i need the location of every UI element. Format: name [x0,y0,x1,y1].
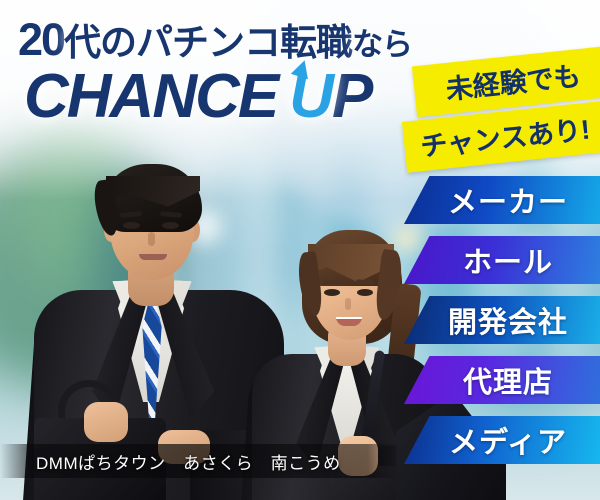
male-eye-right [162,222,179,229]
category-item-agency[interactable]: 代理店 [404,356,600,404]
male-mouth [139,254,167,260]
no-experience-badge: 未経験でも チャンスあり! [414,56,600,162]
category-label-maker: メーカー [436,179,568,221]
category-list: メーカー ホール 開発会社 代理店 メディア [404,176,600,464]
category-item-maker[interactable]: メーカー [404,176,600,224]
headline-up-p-letter: P [332,62,371,131]
headline-line-1-body: 代のパチンコ転職 [64,22,352,63]
headline-line-1-tail: なら [352,27,412,62]
category-label-agency: 代理店 [451,359,553,401]
male-nose [148,232,155,246]
female-eye-left [324,289,340,296]
caption-text: DMMぱちタウン あさくら 南こうめ [36,449,341,474]
headline-line-1: 20代のパチンコ転職なら [18,12,412,66]
category-item-hall[interactable]: ホール [404,236,600,284]
recruit-banner: 20代のパチンコ転職なら CHANCEUP 未経験でも チャンスあり! メーカー… [0,0,600,500]
caption-strip: DMMぱちタウン あさくら 南こうめ [0,444,400,478]
category-label-hall: ホール [451,239,553,281]
male-eye-left [123,222,140,229]
category-label-developer: 開発会社 [436,299,568,341]
category-item-developer[interactable]: 開発会社 [404,296,600,344]
female-nose [345,298,351,310]
male-hand-left [84,402,128,442]
category-label-media: メディア [437,419,567,461]
headline-up-u: U [289,64,332,129]
headline-line-2: CHANCEUP [24,64,412,129]
headline: 20代のパチンコ転職なら CHANCEUP [18,12,412,129]
female-eye-right [357,289,373,296]
headline-chance-word: CHANCE [24,62,277,131]
category-item-media[interactable]: メディア [404,416,600,464]
headline-age-number: 20 [18,14,64,65]
